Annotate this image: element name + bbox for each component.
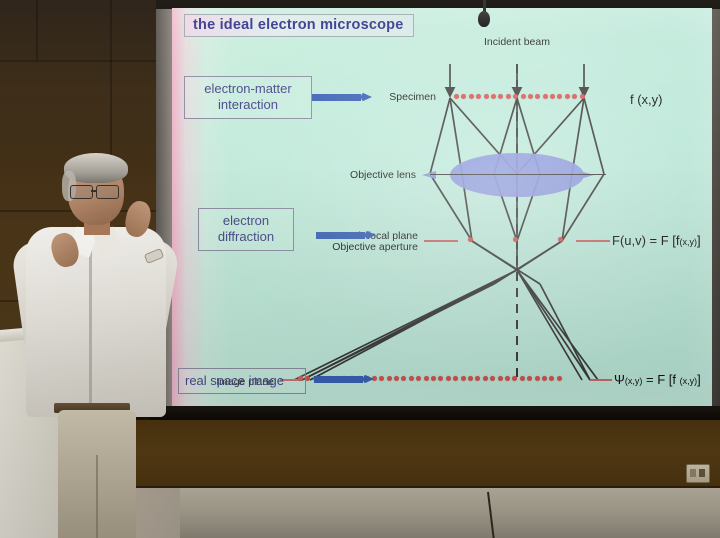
image-formula-sub2: (x,y): [680, 376, 698, 386]
back-focal-formula-end: ]: [697, 233, 701, 248]
specimen-label: Specimen: [389, 91, 436, 105]
image-plane-formula: Ψ(x,y)(x,y) = F [f = F [f (x,y)]: [614, 372, 701, 387]
objective-lens-label: Objective lens: [350, 169, 416, 183]
stage-label-line1: electron: [207, 213, 285, 229]
back-focal-formula: F(u,v) = F [f(x,y)]: [612, 233, 701, 248]
stage-label-line1: real space image: [185, 373, 297, 389]
specimen-plane-markers: [454, 94, 587, 99]
psi-symbol: Ψ: [614, 372, 625, 387]
trousers-seam: [96, 455, 98, 538]
image-formula-arg: (x,y): [625, 376, 643, 386]
ceiling-hanger-knob: [478, 11, 490, 27]
stage-label-electron-diffraction[interactable]: electron diffraction: [198, 208, 294, 251]
back-focal-marker-2: [513, 237, 520, 242]
back-focal-rule-right: [576, 240, 610, 242]
back-focal-marker-1: [468, 237, 475, 242]
arrow-real-space-image: [314, 374, 374, 385]
stage-label-electron-matter-interaction[interactable]: electron-matter interaction: [184, 76, 312, 119]
back-focal-marker-3: [558, 237, 565, 242]
back-focal-rule-left: [424, 240, 458, 242]
wall-seam: [36, 0, 38, 60]
objective-aperture-label: Objective aperture: [332, 241, 418, 255]
slide-title: the ideal electron microscope: [184, 14, 414, 37]
back-focal-formula-main: F(u,v) = F [f: [612, 233, 680, 248]
screen-bottom-bar: [150, 406, 720, 420]
arrow-electron-diffraction: [316, 230, 376, 241]
arrow-electron-matter: [312, 92, 372, 103]
stage-label-real-space-image[interactable]: real space image: [178, 368, 306, 394]
stage-label-line2: interaction: [193, 97, 303, 113]
image-formula-eq: = F [f: [642, 372, 679, 387]
presentation-slide: Incident beam Specimen Objective lens Ba…: [172, 8, 712, 406]
lens-plane-line: [430, 174, 606, 175]
stage-label-line1: electron-matter: [193, 81, 303, 97]
stage-label-line2: diffraction: [207, 229, 285, 245]
lecture-photo: Incident beam Specimen Objective lens Ba…: [0, 0, 720, 538]
wall-seam: [0, 60, 156, 62]
incident-beam-label: Incident beam: [484, 36, 550, 50]
image-formula-end: ]: [697, 372, 701, 387]
presenter: [10, 155, 175, 538]
shirt-placket: [89, 241, 92, 413]
ray-diagram: [172, 8, 712, 406]
back-focal-formula-sub: (x,y): [680, 237, 698, 247]
specimen-formula: f (x,y): [630, 92, 663, 107]
eyeglasses-icon: [70, 185, 122, 197]
image-plane-rule-right: [590, 379, 612, 381]
light-switch-plate[interactable]: [686, 464, 710, 483]
